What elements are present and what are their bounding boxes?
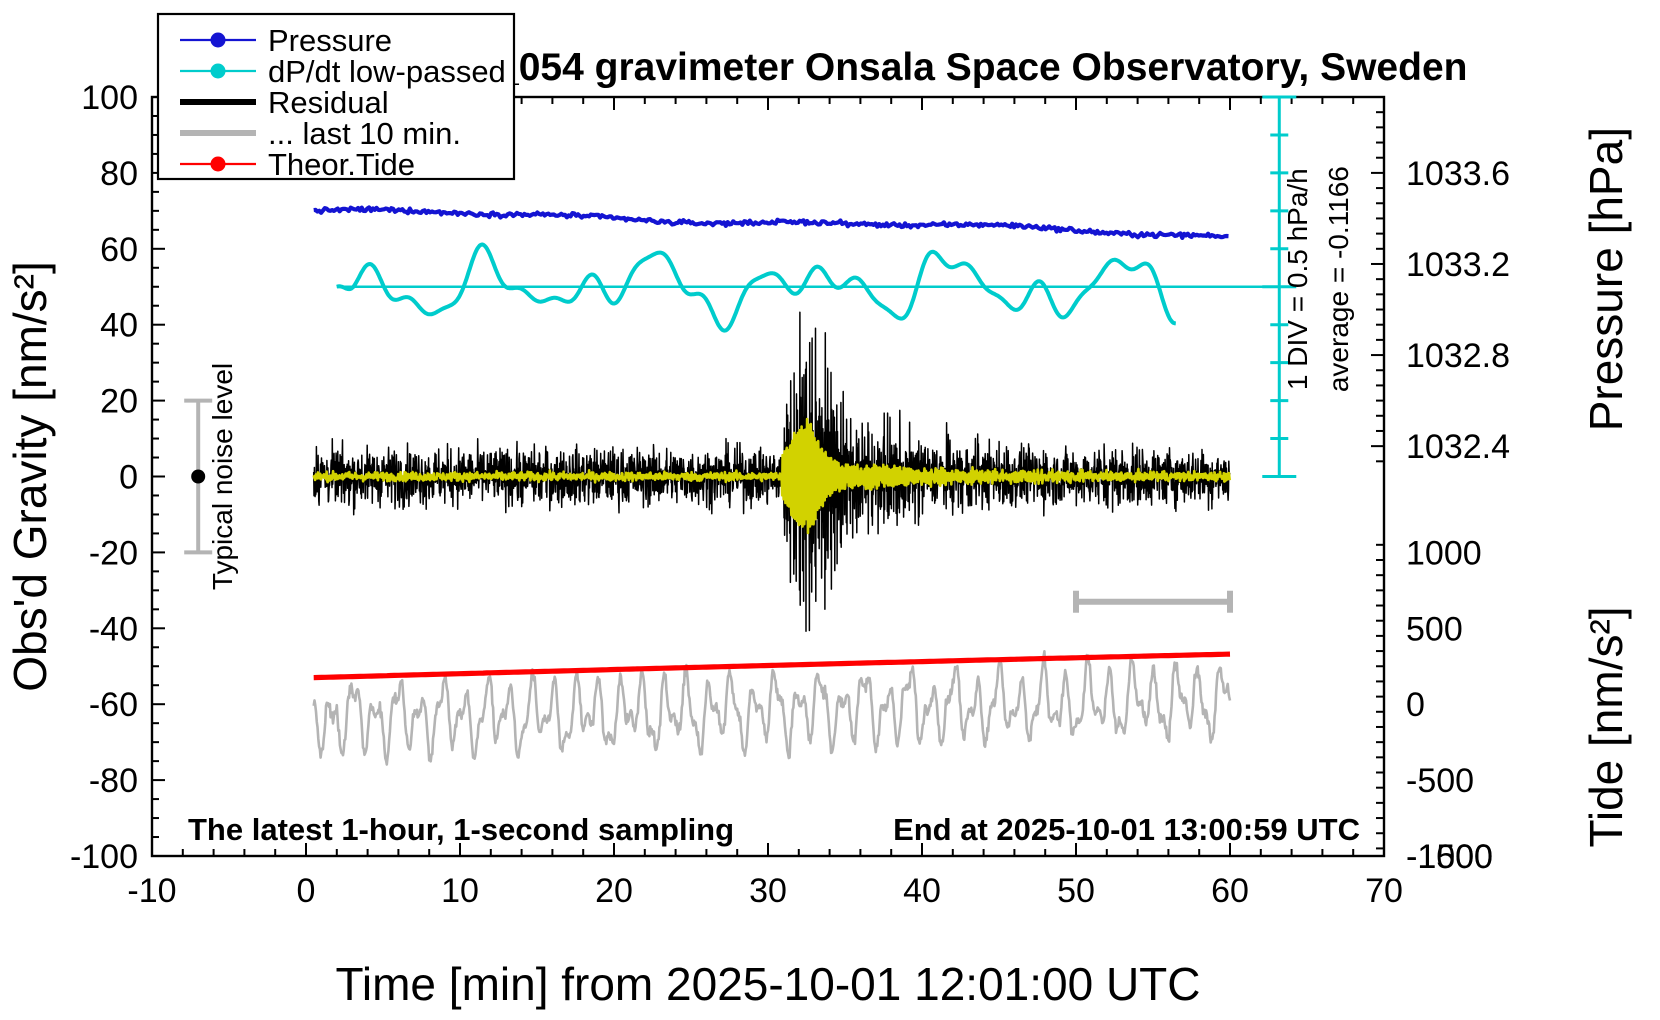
legend-marker bbox=[211, 64, 226, 79]
y-tick-label: -60 bbox=[89, 686, 138, 724]
y-tick-label: -100 bbox=[70, 838, 138, 876]
y-tick-label: 100 bbox=[81, 79, 138, 117]
y-tick-label: 40 bbox=[100, 307, 138, 345]
legend-label: Residual bbox=[268, 85, 389, 120]
x-tick-label: 30 bbox=[749, 872, 787, 910]
footer-right: End at 2025-10-01 13:00:59 UTC bbox=[893, 812, 1360, 847]
y-axis-left: 100806040200-20-40-60-80-100Obs'd Gravit… bbox=[4, 79, 165, 876]
tide-tick-label: 500 bbox=[1406, 610, 1463, 648]
pressure-tick-label: 1032.8 bbox=[1406, 337, 1510, 375]
pressure-tick-label: 1033.2 bbox=[1406, 246, 1510, 284]
tide-tick-label: -500 bbox=[1406, 762, 1474, 800]
legend-marker bbox=[211, 33, 226, 48]
legend-label: ... last 10 min. bbox=[268, 116, 461, 151]
x-tick-label: 40 bbox=[903, 872, 941, 910]
tide-tick-label: -1500 bbox=[1406, 838, 1493, 876]
x-tick-label: 10 bbox=[441, 872, 479, 910]
dpdt-scale-label: 1 DIV = 0.5 hPa/h bbox=[1282, 168, 1313, 390]
y-tick-label: 60 bbox=[100, 231, 138, 269]
noise-level-label: Typical noise level bbox=[207, 363, 238, 590]
pressure-axis-title: Pressure [hPa] bbox=[1580, 127, 1632, 431]
x-tick-label: 60 bbox=[1211, 872, 1249, 910]
legend: PressuredP/dt low-passedResidual... last… bbox=[158, 14, 514, 182]
tide-axis-title: Tide [nm/s²] bbox=[1580, 606, 1632, 847]
x-tick-label: 70 bbox=[1365, 872, 1403, 910]
pressure-tick-label: 1033.6 bbox=[1406, 155, 1510, 193]
x-tick-label: -10 bbox=[127, 872, 176, 910]
y-tick-label: -40 bbox=[89, 610, 138, 648]
chart-page: -10010203040506070Time [min] from 2025-1… bbox=[0, 0, 1660, 1020]
y-tick-label: 80 bbox=[100, 155, 138, 193]
legend-label: Theor.Tide bbox=[268, 147, 415, 182]
y-tick-label: -80 bbox=[89, 762, 138, 800]
x-tick-label: 50 bbox=[1057, 872, 1095, 910]
x-axis-title: Time [min] from 2025-10-01 12:01:00 UTC bbox=[336, 958, 1201, 1010]
dpdt-average-label: average = -0.1166 bbox=[1323, 166, 1354, 392]
x-tick-label: 20 bbox=[595, 872, 633, 910]
gravimeter-chart: -10010203040506070Time [min] from 2025-1… bbox=[0, 0, 1660, 1020]
y-axis-tide: 10005000-500-1000-1500Tide [nm/s²] bbox=[1376, 534, 1632, 876]
y-tick-label: -20 bbox=[89, 534, 138, 572]
chart-title: SCG_054 gravimeter Onsala Space Observat… bbox=[413, 46, 1468, 89]
y-tick-label: 20 bbox=[100, 383, 138, 421]
y-axis-pressure: 1033.61033.21032.81032.4Pressure [hPa] bbox=[1371, 112, 1632, 466]
y-tick-label: 0 bbox=[119, 459, 138, 497]
legend-marker bbox=[211, 157, 226, 172]
x-tick-label: 0 bbox=[297, 872, 316, 910]
legend-label: Pressure bbox=[268, 23, 392, 58]
tide-tick-label: 0 bbox=[1406, 686, 1425, 724]
y-axis-title: Obs'd Gravity [nm/s²] bbox=[4, 261, 56, 692]
pressure-tick-label: 1032.4 bbox=[1406, 428, 1510, 466]
legend-label: dP/dt low-passed bbox=[268, 54, 506, 89]
footer-left: The latest 1-hour, 1-second sampling bbox=[188, 812, 734, 847]
tide-tick-label: 1000 bbox=[1406, 534, 1482, 572]
